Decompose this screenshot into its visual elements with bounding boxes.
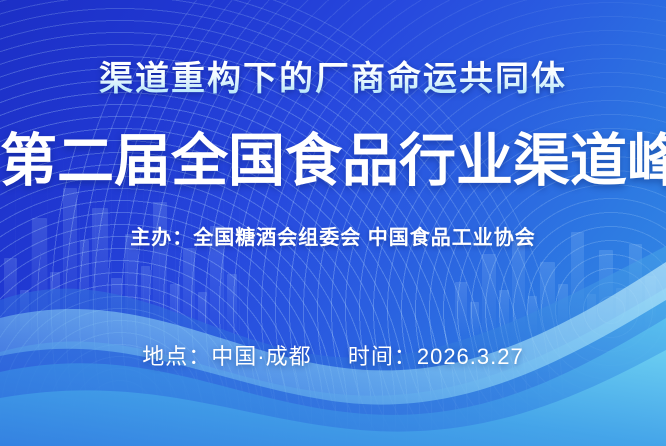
conference-banner: 渠道重构下的厂商命运共同体 第二届全国食品行业渠道峰会 主办：全国糖酒会组委会 … [0,0,666,446]
banner-main-title: 第二届全国食品行业渠道峰会 [0,131,666,193]
banner-location: 地点：中国·成都 [142,344,311,369]
banner-organizer-line: 主办：全国糖酒会组委会 中国食品工业协会 [0,221,666,250]
banner-text-layer: 渠道重构下的厂商命运共同体 第二届全国食品行业渠道峰会 主办：全国糖酒会组委会 … [0,0,666,446]
banner-subtitle: 渠道重构下的厂商命运共同体 [0,60,666,99]
banner-footer-line: 地点：中国·成都 时间：2026.3.27 [0,339,666,371]
banner-date: 时间：2026.3.27 [348,344,524,369]
